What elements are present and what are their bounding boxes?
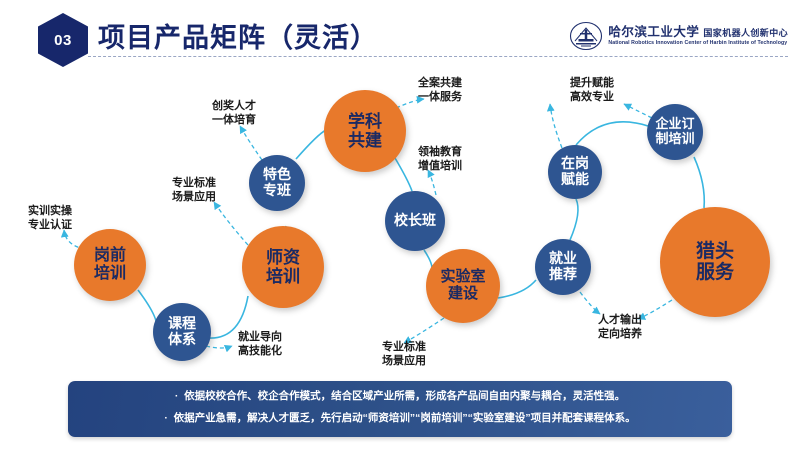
page-title: 项目产品矩阵（灵活） — [98, 16, 378, 55]
node-label-line1: 特色 — [263, 167, 291, 183]
diagram-annotation-zhuanye-biaozhun-left: 专业标准场景应用 — [172, 177, 216, 205]
logo-center-name: 国家机器人创新中心 — [703, 29, 788, 38]
slide-header: 03 项目产品矩阵（灵活） 哈尔滨工业大学 国家机器人创新中心 National… — [0, 0, 800, 66]
logo-english-name: National Robotics Innovation Center of H… — [608, 41, 788, 46]
annotation-line2: 高效专业 — [570, 91, 614, 105]
diagram-node-kecheng-tixi[interactable]: 课程体系 — [153, 303, 211, 361]
annotation-line1: 领袖教育 — [418, 146, 462, 160]
annotation-line1: 就业导向 — [238, 331, 282, 345]
node-label-line2: 培训 — [94, 265, 126, 283]
diagram-annotation-jiuye-daoxiang: 就业导向高技能化 — [238, 331, 282, 359]
section-number: 03 — [54, 32, 72, 49]
node-label-line2: 培训 — [266, 267, 300, 286]
diagram-annotation-quanan-gongjian: 全案共建一体服务 — [418, 77, 462, 105]
slide-canvas: 03 项目产品矩阵（灵活） 哈尔滨工业大学 国家机器人创新中心 National… — [0, 0, 800, 450]
diagram-node-qiye-dingzhi[interactable]: 企业订制培训 — [647, 104, 703, 160]
summary-bullet-list: 依据校校合作、校企合作模式，结合区域产业所需，形成各产品间自由内聚与耦合，灵活性… — [68, 390, 732, 424]
node-label-line1: 就业 — [549, 251, 577, 267]
annotation-line1: 专业标准 — [382, 341, 426, 355]
logo-university-name: 哈尔滨工业大学 — [608, 26, 699, 39]
node-label-line2: 制培训 — [655, 132, 694, 147]
annotation-line1: 全案共建 — [418, 77, 462, 91]
annotation-line2: 一体服务 — [418, 91, 462, 105]
diagram-node-tese-zhuanban[interactable]: 特色专班 — [249, 155, 305, 211]
annotation-line2: 高技能化 — [238, 345, 282, 359]
diagram-annotation-chuangjiang-rencai: 创奖人才一体培育 — [212, 100, 256, 128]
diagram-node-xueke-gongjian[interactable]: 学科共建 — [324, 90, 406, 172]
diagram-node-gangqian-peixun[interactable]: 岗前培训 — [74, 229, 146, 301]
diagram-node-shiyanshi-jianshe[interactable]: 实验室建设 — [426, 249, 500, 323]
summary-bullet: 依据产业急需，解决人才匮乏，先行启动“师资培训”“岗前培训”“实验室建设”项目并… — [68, 412, 732, 425]
node-label-line2: 服务 — [696, 262, 734, 283]
product-matrix-diagram: 岗前培训课程体系师资培训特色专班学科共建校长班实验室建设在岗赋能就业推荐企业订制… — [0, 60, 800, 375]
node-label-line2: 体系 — [168, 332, 196, 348]
title-divider — [88, 56, 788, 57]
annotation-line1: 实训实操 — [28, 205, 72, 219]
annotation-line1: 提升赋能 — [570, 77, 614, 91]
diagram-annotation-rencai-shuchu: 人才输出定向培养 — [598, 314, 642, 342]
annotation-line1: 人才输出 — [598, 314, 642, 328]
annotation-line2: 一体培育 — [212, 114, 256, 128]
node-label-line2: 推荐 — [549, 267, 577, 283]
annotation-line2: 专业认证 — [28, 219, 72, 233]
node-label-line1: 学科 — [348, 112, 382, 131]
node-label-line1: 猎头 — [696, 241, 734, 262]
logo-text-block: 哈尔滨工业大学 国家机器人创新中心 National Robotics Inno… — [608, 26, 788, 47]
diagram-annotation-zhuanye-biaozhun-bottom: 专业标准场景应用 — [382, 341, 426, 369]
slide-footer-bar — [0, 444, 800, 450]
diagram-annotation-tisheng-funeng: 提升赋能高效专业 — [570, 77, 614, 105]
summary-callout: 依据校校合作、校企合作模式，结合区域产业所需，形成各产品间自由内聚与耦合，灵活性… — [68, 381, 732, 437]
annotation-line2: 定向培养 — [598, 328, 642, 342]
node-label-line1: 师资 — [266, 248, 300, 267]
node-label-line1: 实验室 — [440, 269, 485, 286]
node-label-line2: 共建 — [348, 131, 382, 150]
diagram-node-zaigang-funeng[interactable]: 在岗赋能 — [548, 145, 602, 199]
diagram-node-shizi-peixun[interactable]: 师资培训 — [242, 226, 324, 308]
annotation-line1: 创奖人才 — [212, 100, 256, 114]
diagram-node-xiaozhang-ban[interactable]: 校长班 — [385, 191, 445, 251]
diagram-node-lietou-fuwu[interactable]: 猎头服务 — [660, 207, 770, 317]
node-label-line1: 校长班 — [394, 213, 436, 229]
annotation-line2: 场景应用 — [382, 355, 426, 369]
node-label-line2: 赋能 — [561, 172, 589, 188]
node-label-line2: 专班 — [263, 183, 291, 199]
node-label-line2: 建设 — [448, 286, 478, 303]
organization-logo: 哈尔滨工业大学 国家机器人创新中心 National Robotics Inno… — [569, 18, 788, 54]
node-label-line1: 岗前 — [94, 247, 126, 265]
node-label-line1: 企业订 — [655, 117, 694, 132]
annotation-line2: 场景应用 — [172, 191, 216, 205]
summary-bullet: 依据校校合作、校企合作模式，结合区域产业所需，形成各产品间自由内聚与耦合，灵活性… — [68, 390, 732, 403]
diagram-node-jiuye-tuijian[interactable]: 就业推荐 — [535, 239, 591, 295]
university-emblem-icon — [569, 21, 603, 51]
node-label-line1: 课程 — [168, 316, 196, 332]
diagram-annotation-shixun-shicao: 实训实操专业认证 — [28, 205, 72, 233]
node-label-line1: 在岗 — [561, 156, 589, 172]
annotation-line2: 增值培训 — [418, 160, 462, 174]
annotation-line1: 专业标准 — [172, 177, 216, 191]
diagram-annotation-lingxiu-jiaoyu: 领袖教育增值培训 — [418, 146, 462, 174]
section-number-badge: 03 — [38, 13, 88, 67]
